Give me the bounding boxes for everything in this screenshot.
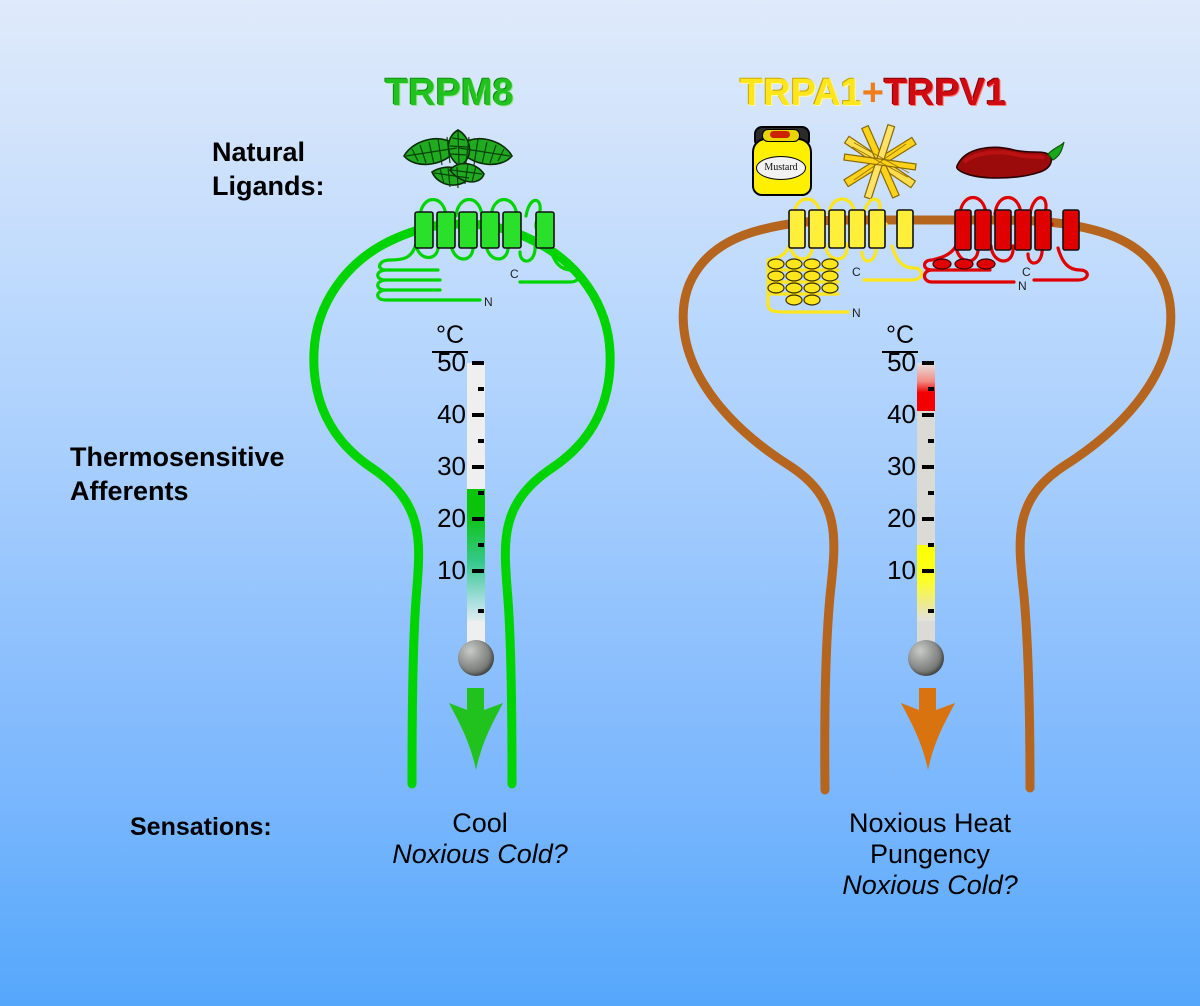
thermometer-right-bulb [908, 640, 944, 676]
tick-label-10: 10 [887, 555, 916, 586]
sensation-right-3: Noxious Cold? [770, 870, 1090, 901]
row-label-afferents-line1: Thermosensitive [70, 440, 285, 474]
title-trpm8: TRPM8 [385, 72, 514, 115]
trpv1-c-terminus-label: C [1022, 265, 1031, 279]
tick-label-40: 40 [437, 399, 466, 430]
row-label-thermosensitive-afferents: Thermosensitive Afferents [70, 440, 285, 508]
tick-mark-45 [478, 387, 484, 391]
tick-mark-10 [922, 569, 934, 573]
tick-mark-50 [472, 361, 484, 365]
sensations-right: Noxious Heat Pungency Noxious Cold? [770, 808, 1090, 901]
figure-canvas: TRPM8 TRPA1+TRPV1 Natural Ligands: Therm… [0, 0, 1200, 1006]
tick-label-30: 30 [437, 451, 466, 482]
tick-mark-45 [928, 387, 934, 391]
row-label-afferents-line2: Afferents [70, 474, 285, 508]
tick-label-50: 50 [887, 347, 916, 378]
mustard-jar-icon: Mustard [748, 120, 818, 200]
thermometer-right-tube [917, 363, 935, 650]
tick-mark-50 [922, 361, 934, 365]
channel-trpv1: N C [918, 186, 1118, 316]
tick-mark-30 [922, 465, 934, 469]
title-trpv1-text: TRPV1 [884, 72, 1006, 114]
thermometer-trpa1-trpv1: °C 50 40 30 20 [860, 363, 970, 693]
channel-trpm8: N C [360, 186, 590, 326]
tick-mark-35 [478, 439, 484, 443]
tick-mark-5 [928, 609, 934, 613]
title-trpa1-trpv1: TRPA1+TRPV1 [740, 72, 1006, 115]
mustard-jar-label: Mustard [756, 156, 806, 180]
title-trpa1-text: TRPA1 [740, 72, 862, 114]
tick-mark-25 [478, 491, 484, 495]
tick-label-30: 30 [887, 451, 916, 482]
trpm8-n-terminus-label: N [484, 295, 493, 309]
trpa1-c-terminus-label: C [852, 265, 861, 279]
tick-label-20: 20 [437, 503, 466, 534]
row-label-ligands-line2: Ligands: [212, 169, 325, 203]
sensations-left: Cool Noxious Cold? [330, 808, 630, 870]
row-label-natural-ligands: Natural Ligands: [212, 135, 325, 203]
tick-label-50: 50 [437, 347, 466, 378]
thermometer-left-cool-band [467, 489, 485, 621]
mustard-jar-lid-core [770, 131, 790, 138]
tick-mark-40 [472, 413, 484, 417]
tick-mark-15 [478, 543, 484, 547]
tick-mark-20 [922, 517, 934, 521]
tick-mark-15 [928, 543, 934, 547]
sensation-left-2: Noxious Cold? [330, 839, 630, 870]
thermometer-left-tube [467, 363, 485, 650]
tick-label-10: 10 [437, 555, 466, 586]
tick-mark-25 [928, 491, 934, 495]
title-plus-sign: + [862, 72, 884, 114]
thermometer-trpm8: °C 50 40 30 20 [410, 363, 520, 693]
tick-mark-35 [928, 439, 934, 443]
row-label-sensations: Sensations: [130, 810, 272, 844]
trpm8-c-terminus-label: C [510, 267, 519, 281]
trpa1-n-terminus-label: N [852, 306, 861, 320]
tick-mark-5 [478, 609, 484, 613]
sensation-left-1: Cool [330, 808, 630, 839]
chili-pepper-icon [952, 128, 1072, 190]
tick-mark-40 [922, 413, 934, 417]
tick-mark-10 [472, 569, 484, 573]
row-label-ligands-line1: Natural [212, 135, 325, 169]
thermometer-left-bulb [458, 640, 494, 676]
sensation-right-1: Noxious Heat [770, 808, 1090, 839]
tick-mark-20 [472, 517, 484, 521]
trpv1-n-terminus-label: N [1018, 279, 1027, 293]
sensation-right-2: Pungency [770, 839, 1090, 870]
tick-label-20: 20 [887, 503, 916, 534]
tick-mark-30 [472, 465, 484, 469]
tick-label-40: 40 [887, 399, 916, 430]
